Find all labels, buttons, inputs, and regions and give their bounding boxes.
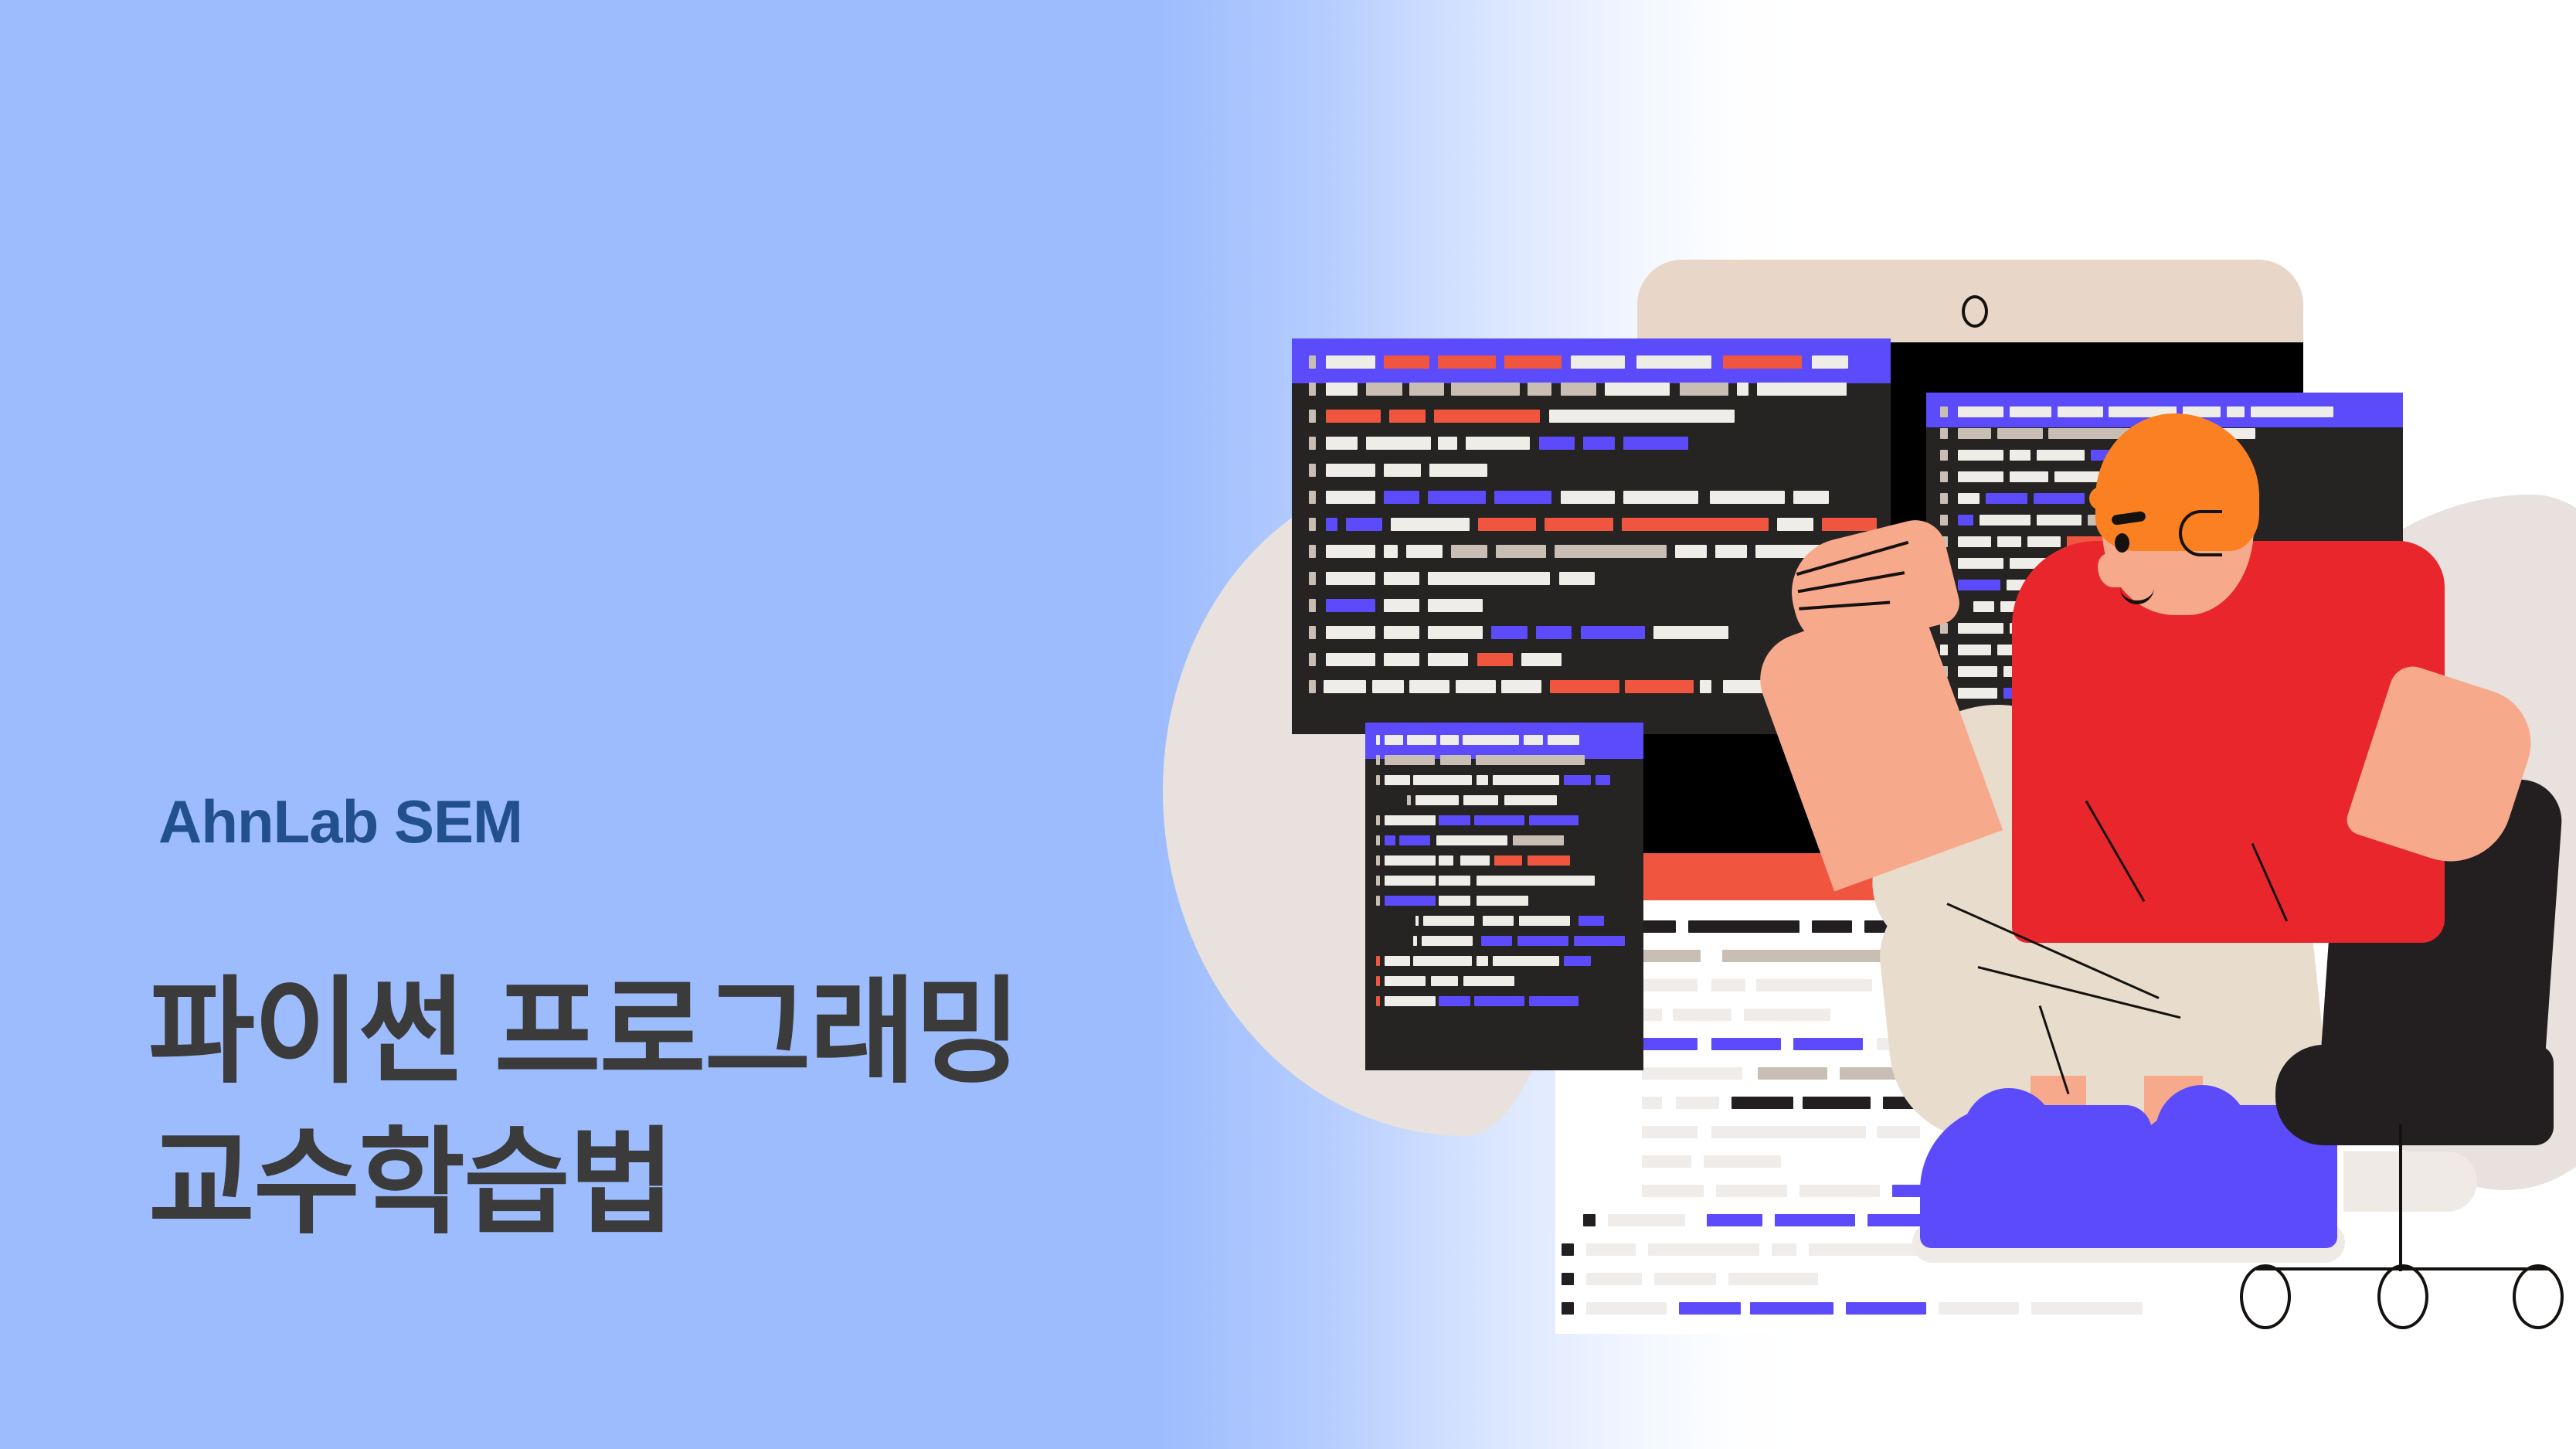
code-token	[1757, 383, 1846, 396]
code-token	[1564, 956, 1591, 966]
code-token	[1711, 1038, 1781, 1050]
code-token	[1309, 626, 1316, 639]
code-token	[1605, 383, 1670, 396]
code-token	[1623, 491, 1698, 504]
code-token	[1715, 545, 1747, 558]
code-token	[1407, 795, 1411, 805]
code-token	[1501, 680, 1541, 693]
code-token	[1376, 855, 1380, 866]
code-token	[1376, 815, 1380, 825]
code-token	[1793, 491, 1830, 504]
code-token	[1622, 518, 1769, 531]
code-token	[1528, 855, 1570, 866]
code-token	[1451, 383, 1520, 396]
code-token	[1366, 437, 1431, 450]
code-token	[1636, 355, 1711, 369]
code-token	[1688, 920, 1799, 933]
code-token	[1642, 920, 1676, 933]
code-token	[1579, 916, 1604, 926]
code-token	[2058, 406, 2103, 417]
code-token	[1772, 1243, 1796, 1256]
code-token	[1642, 950, 1701, 962]
code-token	[1372, 680, 1404, 693]
code-token	[1438, 355, 1495, 369]
code-token	[1548, 735, 1579, 745]
code-token	[1477, 775, 1488, 785]
code-token	[2251, 406, 2333, 417]
code-line	[1365, 936, 1643, 946]
code-token	[1460, 855, 1490, 866]
code-token	[1583, 437, 1615, 450]
code-token	[1309, 545, 1316, 558]
code-token	[1309, 410, 1316, 423]
code-token	[1326, 491, 1375, 504]
code-token	[1415, 795, 1460, 805]
code-token	[1385, 755, 1435, 765]
code-token	[1731, 1097, 1793, 1109]
code-line	[1365, 815, 1643, 825]
code-token	[2054, 471, 2100, 482]
ahnlab-sem-logo: AhnLab SEM	[158, 787, 522, 857]
code-token	[1758, 1067, 1827, 1080]
code-token	[1477, 876, 1595, 886]
code-token	[1564, 775, 1591, 785]
code-token	[1504, 795, 1556, 805]
code-token	[1539, 437, 1575, 450]
code-token	[1596, 775, 1610, 785]
chair-caster	[2513, 1264, 2564, 1329]
code-token	[1476, 755, 1585, 765]
code-token	[1524, 735, 1543, 745]
code-token	[1707, 1214, 1762, 1226]
code-token	[1309, 680, 1316, 693]
code-token	[1642, 1126, 1698, 1138]
code-token	[1958, 471, 2003, 482]
code-token	[1529, 996, 1579, 1006]
code-token	[1477, 896, 1528, 906]
code-token	[1326, 437, 1358, 450]
code-line	[1292, 545, 1891, 558]
code-line	[1365, 795, 1643, 805]
code-token	[1716, 1185, 1787, 1197]
code-token	[1385, 855, 1436, 866]
code-token	[1642, 979, 1698, 992]
code-line	[1555, 1302, 2343, 1315]
code-token	[1384, 545, 1398, 558]
office-chair-post	[2399, 1124, 2402, 1271]
code-token	[1326, 545, 1375, 558]
code-line	[1365, 896, 1643, 906]
code-token	[1376, 835, 1380, 845]
office-chair-seat	[2275, 1045, 2554, 1145]
code-token	[1958, 558, 2003, 569]
code-token	[1439, 996, 1470, 1006]
code-token	[1466, 437, 1531, 450]
code-line	[1365, 735, 1643, 745]
code-token	[1384, 653, 1420, 666]
code-window-small-content	[1365, 759, 1643, 1070]
code-token	[1385, 976, 1426, 986]
code-token	[1326, 626, 1375, 639]
code-token	[1504, 355, 1562, 369]
code-token	[1555, 545, 1667, 558]
code-token	[2027, 536, 2061, 547]
figure-finger-line	[1799, 601, 1890, 611]
code-token	[1385, 956, 1410, 966]
code-token	[1463, 976, 1514, 986]
code-token	[1846, 1302, 1926, 1315]
code-token	[1940, 428, 1948, 439]
code-token	[1385, 815, 1436, 825]
code-token	[1385, 775, 1410, 785]
code-token	[1346, 518, 1382, 531]
code-token	[1529, 815, 1579, 825]
code-token	[1586, 1243, 1636, 1256]
slide-canvas: AhnLab SEM 파이썬 프로그래밍 교수학습법	[0, 0, 2576, 1449]
code-token	[1429, 464, 1487, 477]
code-token	[1958, 623, 2003, 634]
code-line	[1292, 383, 1891, 396]
code-token	[1428, 599, 1483, 612]
code-token	[1422, 936, 1473, 946]
code-token	[1376, 755, 1380, 765]
code-token	[1940, 471, 1948, 482]
code-token	[1309, 383, 1316, 396]
code-line	[1292, 491, 1891, 504]
figure-ear	[2179, 510, 2222, 556]
code-token	[1973, 601, 1994, 612]
code-token	[1456, 680, 1496, 693]
code-token	[1436, 835, 1507, 845]
code-token	[1653, 626, 1728, 639]
code-token	[1376, 735, 1380, 745]
code-token	[1675, 545, 1707, 558]
code-token	[1642, 1097, 1662, 1109]
code-token	[1586, 1302, 1667, 1315]
code-token	[1803, 1097, 1871, 1109]
code-token	[1877, 1126, 1920, 1138]
code-token	[1654, 1273, 1716, 1285]
code-token	[1366, 383, 1402, 396]
code-token	[1326, 653, 1375, 666]
code-token	[1409, 680, 1449, 693]
camera-icon	[1962, 295, 1988, 328]
code-token	[1384, 464, 1421, 477]
code-token	[1940, 450, 1948, 461]
shoe-left	[1920, 1105, 2152, 1248]
code-token	[1309, 518, 1316, 531]
code-token	[1940, 493, 1948, 504]
code-token	[1980, 515, 2031, 526]
code-token	[1940, 515, 1948, 526]
code-token	[1940, 406, 1948, 417]
code-token	[1722, 950, 1892, 962]
code-token	[1326, 410, 1381, 423]
code-token	[1309, 355, 1316, 369]
code-token	[1309, 572, 1316, 585]
code-token	[1376, 976, 1380, 986]
code-token	[1700, 680, 1711, 693]
figure-finger-line	[1798, 571, 1905, 593]
code-token	[1474, 996, 1524, 1006]
code-token	[1513, 835, 1564, 845]
code-token	[2227, 406, 2245, 417]
code-line	[1365, 835, 1643, 845]
code-token	[1451, 545, 1487, 558]
code-token	[1711, 979, 1745, 992]
code-token	[1463, 735, 1519, 745]
code-token	[1384, 572, 1420, 585]
code-token	[1428, 491, 1485, 504]
code-token	[1517, 936, 1568, 946]
code-token	[1673, 1009, 1731, 1021]
code-token	[1958, 645, 1991, 655]
code-line	[1365, 775, 1643, 785]
code-line	[1365, 996, 1643, 1006]
code-token	[1423, 916, 1474, 926]
code-token	[1581, 626, 1646, 639]
code-token	[1385, 835, 1395, 845]
code-token	[1958, 515, 1973, 526]
page-title: 파이썬 프로그래밍 교수학습법	[148, 957, 1020, 1258]
code-token	[1799, 1185, 1880, 1197]
code-token	[1385, 996, 1436, 1006]
code-token	[1434, 410, 1541, 423]
code-token	[1625, 680, 1694, 693]
code-line	[1365, 755, 1643, 765]
code-token	[1812, 355, 1848, 369]
code-window-small[interactable]	[1365, 723, 1643, 1070]
code-token	[1958, 493, 1979, 504]
code-token	[1737, 383, 1748, 396]
code-line	[1292, 518, 1891, 531]
code-token	[1409, 383, 1444, 396]
code-token	[1309, 437, 1316, 450]
code-token	[1413, 956, 1472, 966]
code-token	[1406, 545, 1443, 558]
code-token	[1812, 920, 1852, 933]
code-token	[1309, 464, 1316, 477]
code-token	[1474, 815, 1524, 825]
code-token	[1939, 1302, 2019, 1315]
code-token	[1428, 572, 1550, 585]
chair-caster	[2377, 1264, 2428, 1329]
code-token	[1385, 896, 1436, 906]
code-token	[1549, 410, 1735, 423]
code-token	[1997, 536, 2021, 547]
figure-eye	[2115, 533, 2129, 553]
code-token	[1559, 572, 1596, 585]
code-token	[1728, 1273, 1818, 1285]
code-token	[1809, 1243, 1917, 1256]
code-line	[1365, 855, 1643, 866]
code-token	[1376, 775, 1380, 785]
code-token	[1561, 491, 1616, 504]
code-token	[1491, 626, 1528, 639]
code-token	[1642, 1155, 1691, 1168]
code-token	[1550, 680, 1619, 693]
code-token	[1583, 1214, 1596, 1226]
code-token	[1528, 383, 1552, 396]
code-token	[1536, 626, 1572, 639]
code-token	[1478, 518, 1535, 531]
code-token	[1440, 735, 1460, 745]
code-token	[1376, 876, 1380, 886]
code-token	[1775, 1214, 1855, 1226]
code-token	[1958, 666, 1997, 677]
code-token	[1986, 493, 2028, 504]
code-token	[1562, 1302, 1574, 1315]
code-line	[1292, 355, 1891, 369]
code-token	[1440, 755, 1471, 765]
code-token	[1545, 518, 1613, 531]
code-token	[1376, 896, 1380, 906]
code-token	[1793, 1038, 1863, 1050]
code-token	[1521, 653, 1562, 666]
code-token	[1822, 518, 1877, 531]
code-token	[1750, 1302, 1833, 1315]
code-token	[1723, 355, 1802, 369]
code-token	[1676, 1097, 1719, 1109]
chair-caster	[2240, 1264, 2291, 1329]
code-token	[1413, 936, 1417, 946]
code-token	[1399, 835, 1430, 845]
code-token	[1483, 916, 1514, 926]
code-line	[1365, 976, 1643, 986]
code-line	[1365, 876, 1643, 886]
code-token	[1407, 735, 1436, 745]
code-token	[1958, 428, 1991, 439]
code-token	[1477, 653, 1514, 666]
code-token	[1384, 491, 1420, 504]
code-token	[1519, 916, 1570, 926]
code-token	[1711, 1126, 1866, 1138]
code-token	[2010, 406, 2052, 417]
code-token	[1376, 956, 1380, 966]
code-token	[1413, 775, 1472, 785]
code-token	[1477, 956, 1488, 966]
code-token	[1439, 876, 1470, 886]
code-token	[1481, 936, 1512, 946]
code-token	[1562, 1273, 1574, 1285]
code-token	[1309, 653, 1316, 666]
code-line	[1292, 464, 1891, 477]
code-token	[1439, 855, 1453, 866]
code-token	[1309, 491, 1316, 504]
code-token	[1623, 437, 1688, 450]
code-token	[1680, 383, 1728, 396]
code-token	[1494, 491, 1551, 504]
code-token	[1574, 936, 1625, 946]
code-token	[1756, 979, 1872, 992]
code-token	[1958, 450, 2003, 461]
code-token	[1642, 1067, 1742, 1080]
code-line	[1365, 956, 1643, 966]
code-token	[1463, 795, 1498, 805]
code-token	[1385, 735, 1404, 745]
code-token	[1562, 1243, 1574, 1256]
code-token	[1415, 916, 1419, 926]
code-token	[1744, 1009, 1830, 1021]
code-token	[1642, 1038, 1698, 1050]
code-token	[1493, 775, 1559, 785]
code-token	[1309, 599, 1316, 612]
code-token	[1586, 1273, 1642, 1285]
code-token	[2010, 450, 2031, 461]
code-token	[1324, 680, 1367, 693]
code-token	[1561, 383, 1597, 396]
code-line	[1292, 410, 1891, 423]
code-token	[1438, 437, 1456, 450]
code-token	[1679, 1302, 1741, 1315]
code-token	[1494, 855, 1521, 866]
code-token	[1326, 599, 1375, 612]
code-token	[1940, 623, 1948, 634]
code-token	[1439, 815, 1470, 825]
code-token	[1439, 896, 1470, 906]
code-token	[1384, 626, 1420, 639]
code-line	[1292, 437, 1891, 450]
code-token	[2031, 1302, 2143, 1315]
code-token	[1958, 406, 2003, 417]
code-token	[1493, 956, 1559, 966]
code-token	[1940, 645, 1948, 655]
code-token	[1428, 626, 1483, 639]
code-token	[1642, 1185, 1704, 1197]
code-line	[1555, 1273, 2343, 1285]
code-line	[1365, 916, 1643, 926]
code-token	[2037, 515, 2082, 526]
code-token	[1777, 518, 1813, 531]
code-token	[1710, 491, 1785, 504]
code-token	[1958, 536, 1991, 547]
code-token	[1326, 355, 1375, 369]
code-token	[2034, 493, 2085, 504]
code-token	[1326, 518, 1337, 531]
code-token	[1428, 653, 1468, 666]
code-token	[1608, 1214, 1685, 1226]
code-token	[1496, 545, 1546, 558]
code-token	[1384, 599, 1420, 612]
code-token	[1642, 1009, 1662, 1021]
code-token	[1389, 410, 1426, 423]
code-token	[1704, 1155, 1781, 1168]
code-token	[1391, 518, 1470, 531]
code-token	[1376, 996, 1380, 1006]
code-token	[1958, 688, 1997, 699]
code-token	[1326, 572, 1375, 585]
code-token	[1326, 383, 1358, 396]
code-token	[1384, 355, 1430, 369]
code-token	[1648, 1243, 1759, 1256]
code-token	[1997, 428, 2043, 439]
code-token	[1385, 876, 1436, 886]
code-token	[1958, 580, 2000, 590]
code-token	[2010, 471, 2049, 482]
code-token	[1326, 464, 1375, 477]
code-token	[1571, 355, 1626, 369]
code-token	[1431, 976, 1458, 986]
code-token	[2037, 450, 2085, 461]
